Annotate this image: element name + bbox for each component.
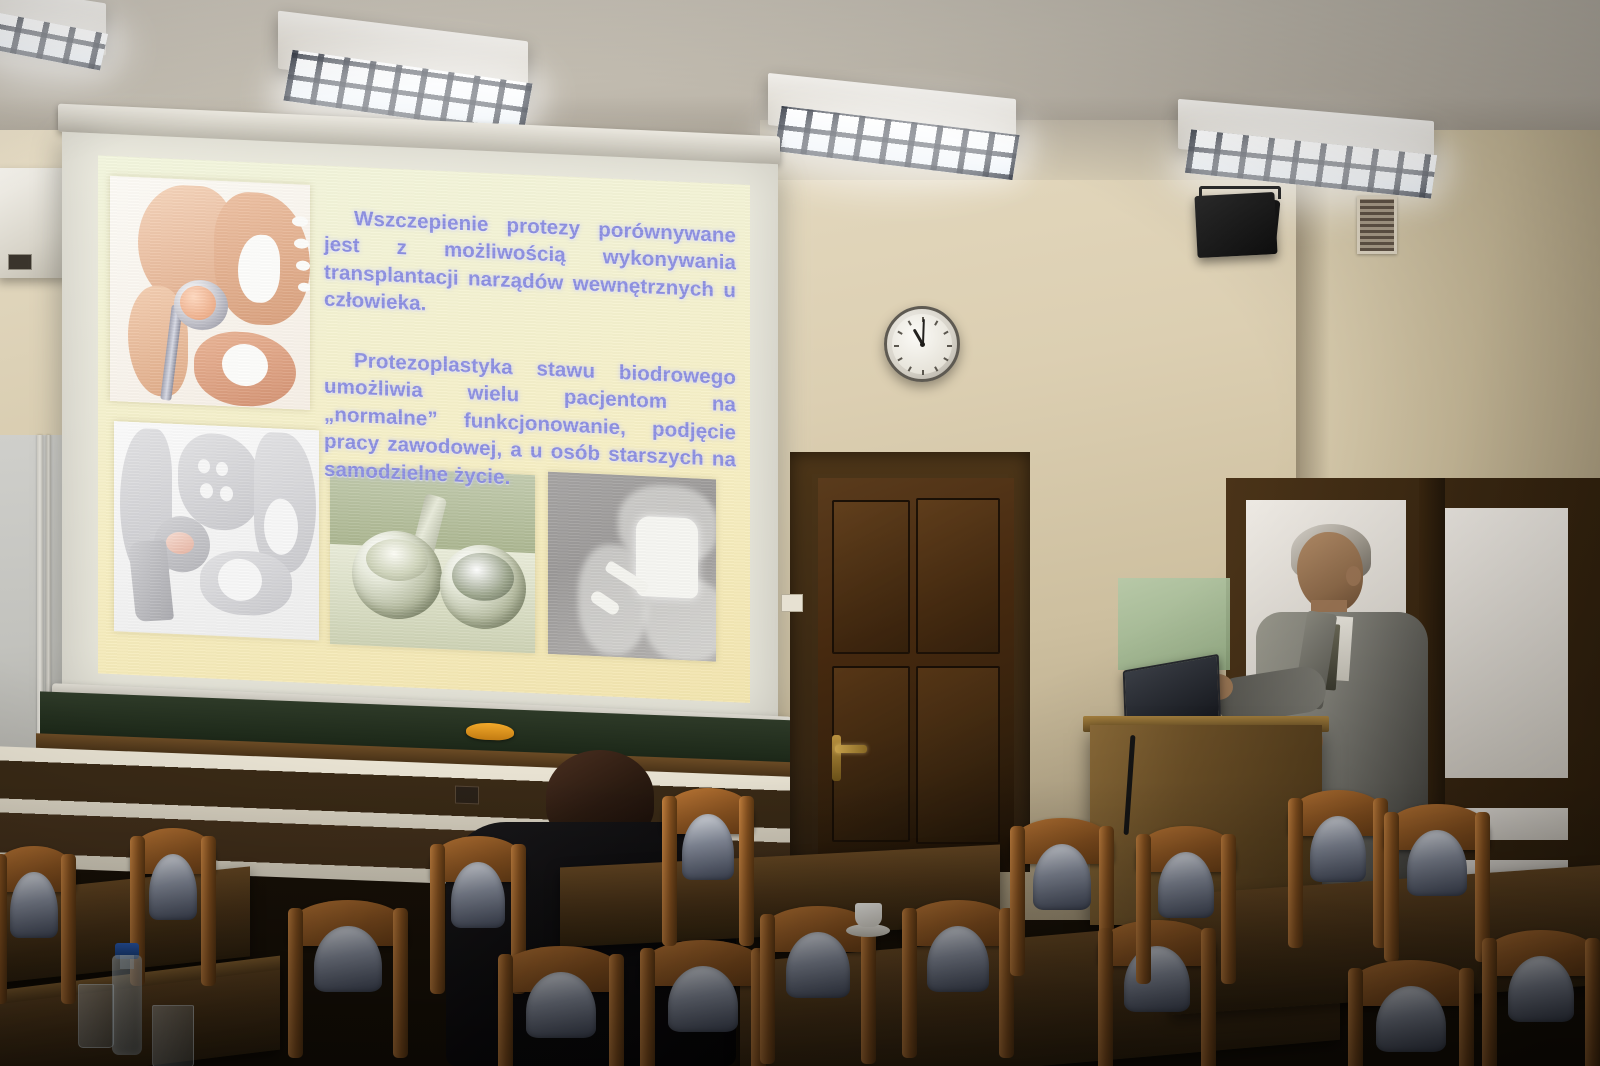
presenter-ear xyxy=(1346,566,1361,586)
drinking-glass[interactable] xyxy=(78,984,114,1048)
wooden-chair[interactable] xyxy=(1384,804,1490,964)
wooden-chair[interactable] xyxy=(1348,960,1474,1066)
wooden-door[interactable] xyxy=(818,478,1014,872)
ventilation-grille xyxy=(1357,196,1397,254)
ac-vent-slot xyxy=(8,254,32,270)
presentation-slide: Wszczepienie protezy porównywane jest z … xyxy=(98,155,750,703)
projection-screen: Wszczepienie protezy porównywane jest z … xyxy=(62,132,778,735)
wooden-chair[interactable] xyxy=(1288,790,1388,950)
wooden-chair[interactable] xyxy=(0,846,76,1006)
lecture-hall-photo: Wszczepienie protezy porównywane jest z … xyxy=(0,0,1600,1066)
hip-anatomy-illustration xyxy=(110,176,310,410)
drinking-glass[interactable] xyxy=(152,1005,194,1066)
light-switch[interactable] xyxy=(781,594,803,612)
wooden-chair[interactable] xyxy=(1136,826,1236,986)
wooden-chair[interactable] xyxy=(662,788,754,948)
wall-socket xyxy=(455,786,479,805)
wall-panel-inset xyxy=(1440,508,1568,778)
clock-center-pin xyxy=(920,342,925,347)
pelvis-model-photo xyxy=(114,421,319,640)
wall-clock xyxy=(884,306,960,382)
slide-paragraph-2: Protezoplastyka stawu biodrowego umożliw… xyxy=(324,346,736,502)
wooden-chair[interactable] xyxy=(640,940,766,1066)
clock-minute-hand xyxy=(922,319,925,344)
wooden-chair[interactable] xyxy=(1482,930,1600,1066)
wooden-chair[interactable] xyxy=(288,900,408,1066)
slide-paragraph-1: Wszczepienie protezy porównywane jest z … xyxy=(324,204,736,333)
wooden-chair[interactable] xyxy=(902,900,1014,1066)
wall-speaker xyxy=(1194,192,1277,258)
coffee-cup[interactable] xyxy=(855,903,882,927)
clock-face xyxy=(892,314,952,374)
wooden-chair[interactable] xyxy=(130,828,216,988)
hip-xray xyxy=(548,472,716,662)
door-handle-plate xyxy=(832,735,841,781)
wooden-chair[interactable] xyxy=(498,946,624,1066)
water-bottle[interactable] xyxy=(112,955,142,1055)
prosthesis-components-photo xyxy=(330,466,535,653)
door-handle[interactable] xyxy=(835,745,867,753)
